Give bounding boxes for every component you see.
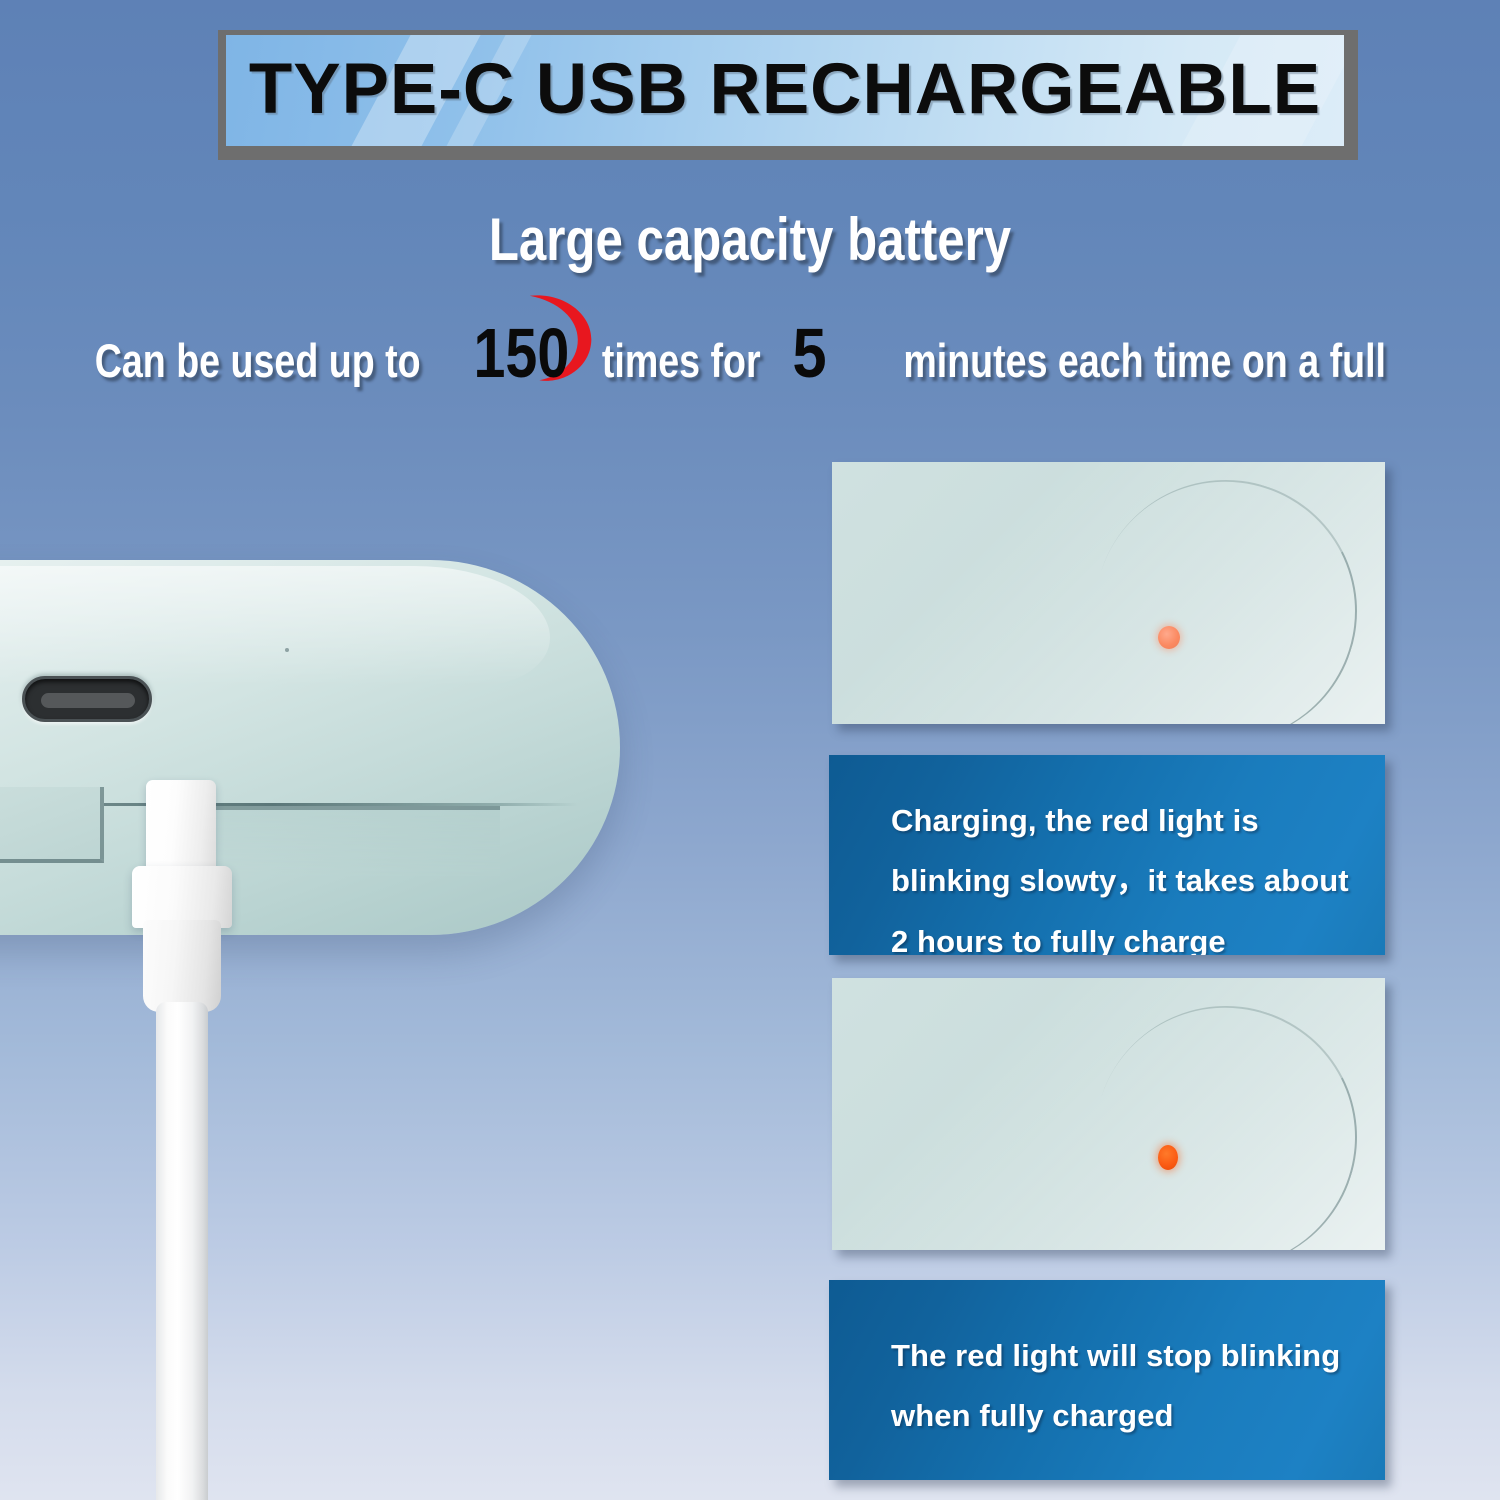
panel-charging-photo [832,462,1385,724]
usb-c-plug-collar [132,866,232,928]
usb-c-strain-relief [143,920,221,1012]
times-number-group: 150 [463,318,580,388]
subline-part-3: minutes each time on a full [903,333,1386,388]
device-lower-notch [0,787,104,863]
charging-caption-text: Charging, the red light is blinking slow… [891,791,1351,955]
device-gloss-highlight [0,566,550,686]
minutes-count: 5 [793,318,827,388]
usb-c-cable-cord [156,1002,208,1500]
page-title: TYPE-C USB RECHARGEABLE [226,48,1344,129]
panel-charging-caption: Charging, the red light is blinking slow… [829,755,1385,955]
led-indicator-blinking [1158,626,1180,649]
fully-charged-caption-text: The red light will stop blinking when fu… [891,1326,1351,1447]
device-lid-step [196,806,500,876]
usb-c-port-tongue [41,693,135,708]
infographic-page: TYPE-C USB RECHARGEABLE Large capacity b… [0,0,1500,1500]
panel-fully-charged-photo [832,978,1385,1250]
device-body [0,560,620,935]
product-photo-main [0,540,720,1500]
subline-part-2: times for [602,333,761,388]
surface-speck [285,648,289,652]
times-count: 150 [473,318,569,388]
usage-subline: Can be used up to 150 times for 5 minute… [0,318,1500,388]
title-banner: TYPE-C USB RECHARGEABLE [218,30,1358,160]
headline-large-capacity-battery: Large capacity battery [135,205,1365,274]
subline-part-1: Can be used up to [94,333,420,388]
usb-c-plug-tip [146,780,216,876]
banner-face: TYPE-C USB RECHARGEABLE [226,35,1344,146]
panel-fully-charged-caption: The red light will stop blinking when fu… [829,1280,1385,1480]
usb-c-port-icon [22,676,152,722]
led-indicator-solid [1158,1145,1178,1170]
